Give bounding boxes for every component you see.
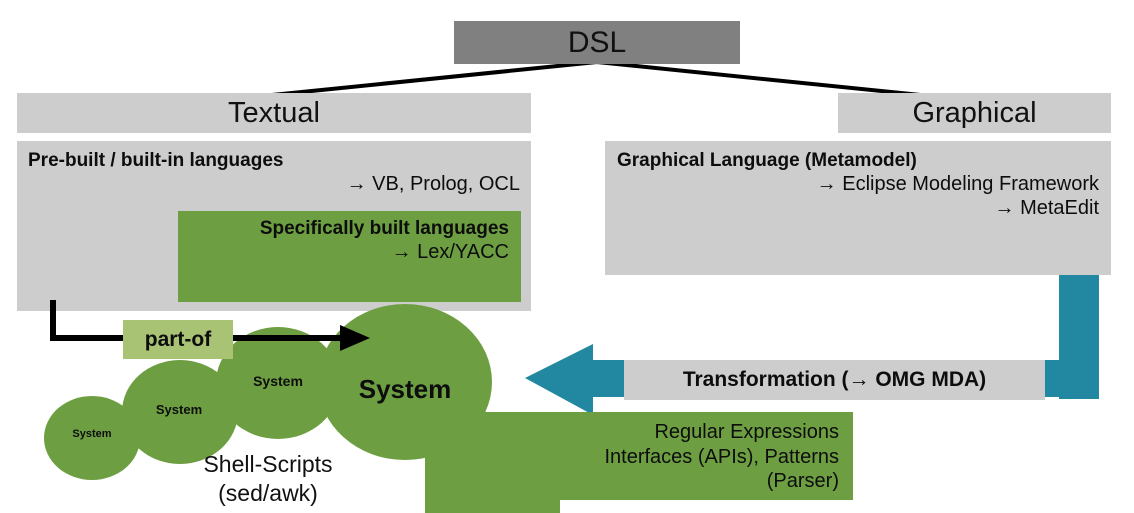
part-of-label: part-of [145,328,212,352]
graphical-to-transformation-connector [1059,275,1099,399]
dsl-root-box: DSL [454,21,740,64]
graphical-language-example-1: → Eclipse Modeling Framework [617,172,1099,196]
prebuilt-languages-heading: Pre-built / built-in languages [28,150,520,172]
transformation-box: Transformation (→ OMG MDA) [624,360,1045,400]
textual-branch-header: Textual [17,93,531,133]
graphical-branch-label: Graphical [912,99,1036,128]
specifically-built-languages-box: Specifically built languages → Lex/YACC [178,211,521,302]
blob-label-1: System [60,428,124,440]
specifically-built-examples: → Lex/YACC [190,240,509,264]
transformation-label: Transformation (→ OMG MDA) [683,368,986,392]
blob-label-4: System [340,374,470,405]
dsl-root-label: DSL [568,28,626,58]
part-of-label-box: part-of [123,320,233,359]
blob-label-3: System [236,373,320,389]
shell-scripts-line-1: Shell-Scripts [140,450,396,479]
shell-scripts-caption: Shell-Scripts (sed/awk) [140,450,396,508]
graphical-language-example-2: → MetaEdit [617,196,1099,220]
prebuilt-languages-examples: → VB, Prolog, OCL [28,172,520,196]
textual-branch-label: Textual [228,99,320,128]
graphical-language-heading: Graphical Language (Metamodel) [617,150,1099,172]
specifically-built-heading: Specifically built languages [190,218,509,240]
graphical-content-panel: Graphical Language (Metamodel) → Eclipse… [605,141,1111,275]
graphical-branch-header: Graphical [838,93,1111,133]
diagram-canvas: DSL Textual Graphical Pre-built / built-… [0,0,1134,513]
blob-label-2: System [141,402,217,417]
shell-scripts-line-2: (sed/awk) [140,479,396,508]
